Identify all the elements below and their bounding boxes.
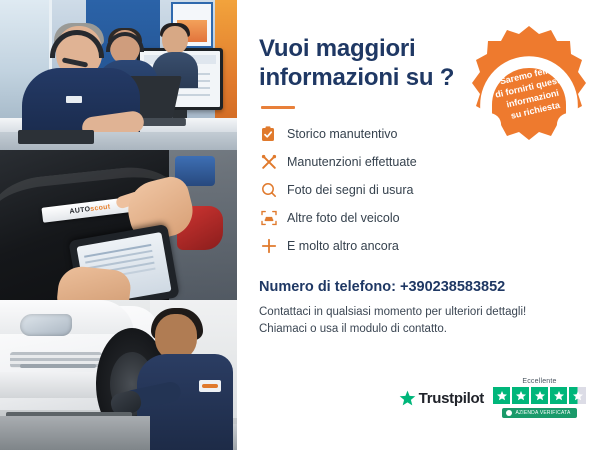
callout-badge: Saremo felici di fornirti queste informa… bbox=[470, 24, 588, 142]
foreground-agent bbox=[22, 26, 140, 138]
chrome-trim bbox=[20, 364, 96, 368]
trustpilot-wordmark: Trustpilot bbox=[419, 390, 484, 407]
car-lift bbox=[0, 416, 150, 450]
page-title: Vuoi maggiori informazioni su ? bbox=[259, 34, 469, 93]
vehicle-label-tablet-photo: AUTOscout bbox=[0, 150, 237, 300]
contact-subtext-line-1: Contattaci in qualsiasi momento per ulte… bbox=[259, 304, 578, 322]
mechanic-person bbox=[137, 314, 233, 450]
trustpilot-rating-label: Eccellente bbox=[522, 378, 556, 385]
star-icon bbox=[550, 387, 567, 404]
list-item-label: Foto dei segni di usura bbox=[287, 183, 413, 197]
star-icon bbox=[512, 387, 529, 404]
photo-column: AUTOscout bbox=[0, 0, 237, 450]
mechanic-wheel-inspection-photo bbox=[0, 300, 237, 450]
star-icon-half bbox=[569, 387, 586, 404]
headline-line-2: informazioni su ? bbox=[259, 63, 469, 92]
verified-badge-label: AZIENDA VERIFICATA bbox=[515, 410, 570, 416]
title-divider bbox=[261, 106, 295, 109]
trustpilot-logo: Trustpilot bbox=[399, 390, 484, 407]
check-icon bbox=[506, 410, 512, 416]
verified-badge: AZIENDA VERIFICATA bbox=[502, 408, 576, 418]
contact-subtext-line-2: Chiamaci o usa il modulo di contatto. bbox=[259, 321, 578, 339]
clipboard-check-icon bbox=[261, 126, 287, 142]
list-item-label: Manutenzioni effettuate bbox=[287, 155, 417, 169]
info-panel: Vuoi maggiori informazioni su ? Saremo f… bbox=[237, 0, 600, 450]
trustpilot-star-icon bbox=[399, 390, 416, 407]
plus-icon bbox=[261, 238, 287, 254]
list-item: E molto altro ancora bbox=[261, 233, 578, 259]
call-center-agents-photo bbox=[0, 0, 237, 150]
tools-cross-icon bbox=[261, 154, 287, 170]
headline-line-1: Vuoi maggiori bbox=[259, 34, 469, 63]
star-icon bbox=[493, 387, 510, 404]
trustpilot-stars bbox=[493, 387, 586, 404]
phone-number: Numero di telefono: +390238583852 bbox=[259, 279, 578, 295]
contact-subtext: Contattaci in qualsiasi momento per ulte… bbox=[259, 304, 578, 340]
car-headlight bbox=[20, 314, 72, 336]
trustpilot-score-block: Eccellente bbox=[493, 378, 586, 418]
list-item: Foto dei segni di usura bbox=[261, 177, 578, 203]
magnifier-icon bbox=[261, 182, 287, 198]
list-item-label: Storico manutentivo bbox=[287, 127, 397, 141]
list-item-label: Altre foto del veicolo bbox=[287, 211, 400, 225]
car-scan-icon bbox=[261, 210, 287, 226]
desk-tray bbox=[18, 130, 94, 144]
trustpilot-rating[interactable]: Trustpilot Eccellente bbox=[399, 378, 586, 418]
list-item-label: E molto altro ancora bbox=[287, 239, 399, 253]
star-icon bbox=[531, 387, 548, 404]
list-item: Altre foto del veicolo bbox=[261, 205, 578, 231]
promo-banner: AUTOscout bbox=[0, 0, 600, 450]
